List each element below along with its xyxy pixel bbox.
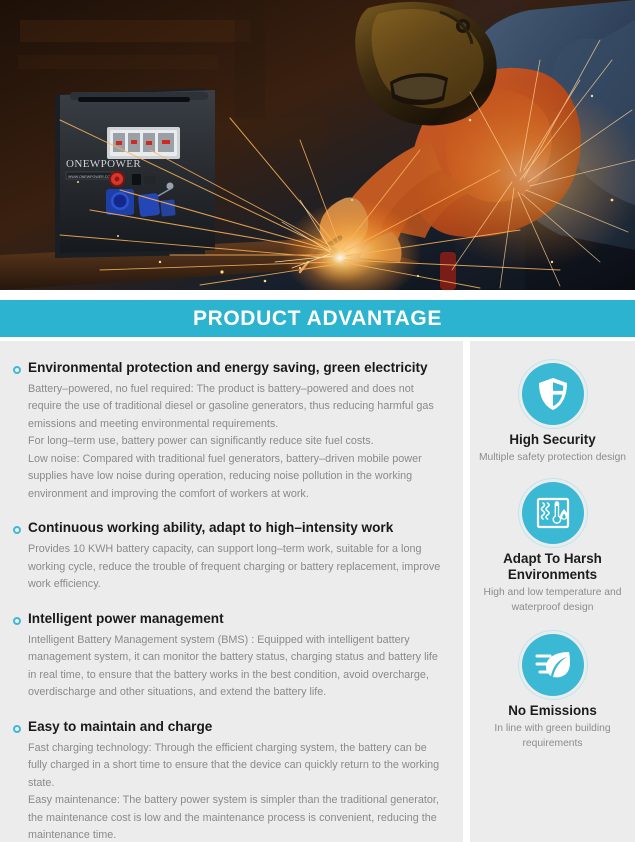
feature-card-title: High Security (476, 432, 629, 448)
advantage-block: Easy to maintain and charge Fast chargin… (13, 719, 447, 842)
advantage-title: Environmental protection and energy savi… (28, 360, 428, 377)
bullet-icon (13, 526, 21, 534)
bullet-icon (13, 725, 21, 733)
product-case: ONEWPOWER WWW.ONEWPOWER.COM (55, 88, 215, 258)
advantage-block: Environmental protection and energy savi… (13, 360, 447, 503)
thermometer-waterdrop-icon (522, 482, 584, 544)
advantage-paragraph: Intelligent Battery Management system (B… (28, 632, 447, 702)
advantage-paragraph: Easy maintenance: The battery power syst… (28, 792, 447, 842)
advantage-paragraph: For long–term use, battery power can sig… (28, 433, 447, 450)
feature-card-subtitle: High and low temperature and waterproof … (476, 586, 629, 615)
advantage-paragraph: Provides 10 KWH battery capacity, can su… (28, 541, 447, 593)
feature-card-high-security: High Security Multiple safety protection… (476, 363, 629, 465)
feature-card-harsh-environments: Adapt To Harsh Environments High and low… (476, 482, 629, 615)
advantage-heading-row: Easy to maintain and charge (13, 719, 447, 736)
bullet-icon (13, 617, 21, 625)
advantage-body: Fast charging technology: Through the ef… (28, 740, 447, 842)
advantage-heading-row: Environmental protection and energy savi… (13, 360, 447, 377)
advantage-paragraph: Battery–powered, no fuel required: The p… (28, 381, 447, 433)
svg-text:WWW.ONEWPOWER.COM: WWW.ONEWPOWER.COM (68, 175, 113, 179)
hero-image: ONEWPOWER WWW.ONEWPOWER.COM (0, 0, 635, 290)
feature-card-subtitle: Multiple safety protection design (476, 451, 629, 466)
advantage-body: Battery–powered, no fuel required: The p… (28, 381, 447, 503)
advantage-block: Intelligent power management Intelligent… (13, 611, 447, 702)
shield-icon (522, 363, 584, 425)
advantage-heading-row: Intelligent power management (13, 611, 447, 628)
advantage-paragraph: Fast charging technology: Through the ef… (28, 740, 447, 792)
product-advantage-page: ONEWPOWER WWW.ONEWPOWER.COM (0, 0, 635, 842)
advantages-panel: Environmental protection and energy savi… (0, 341, 463, 842)
feature-card-title: Adapt To Harsh Environments (476, 551, 629, 583)
feature-cards-panel: High Security Multiple safety protection… (470, 341, 635, 842)
leaf-emission-icon (522, 634, 584, 696)
advantage-heading-row: Continuous working ability, adapt to hig… (13, 520, 447, 537)
page-title: PRODUCT ADVANTAGE (193, 307, 442, 331)
svg-text:ONEWPOWER: ONEWPOWER (66, 158, 141, 170)
advantage-paragraph: Low noise: Compared with traditional fue… (28, 451, 447, 503)
hero-illustration: ONEWPOWER WWW.ONEWPOWER.COM (0, 0, 635, 290)
feature-card-title: No Emissions (476, 703, 629, 719)
advantage-block: Continuous working ability, adapt to hig… (13, 520, 447, 593)
advantage-title: Easy to maintain and charge (28, 719, 212, 736)
feature-card-subtitle: In line with green building requirements (476, 722, 629, 751)
advantage-title: Continuous working ability, adapt to hig… (28, 520, 393, 537)
advantage-title: Intelligent power management (28, 611, 224, 628)
bullet-icon (13, 366, 21, 374)
content-area: Environmental protection and energy savi… (0, 341, 635, 842)
section-title-bar: PRODUCT ADVANTAGE (0, 300, 635, 337)
feature-card-no-emissions: No Emissions In line with green building… (476, 634, 629, 751)
advantage-body: Intelligent Battery Management system (B… (28, 632, 447, 702)
advantage-body: Provides 10 KWH battery capacity, can su… (28, 541, 447, 593)
